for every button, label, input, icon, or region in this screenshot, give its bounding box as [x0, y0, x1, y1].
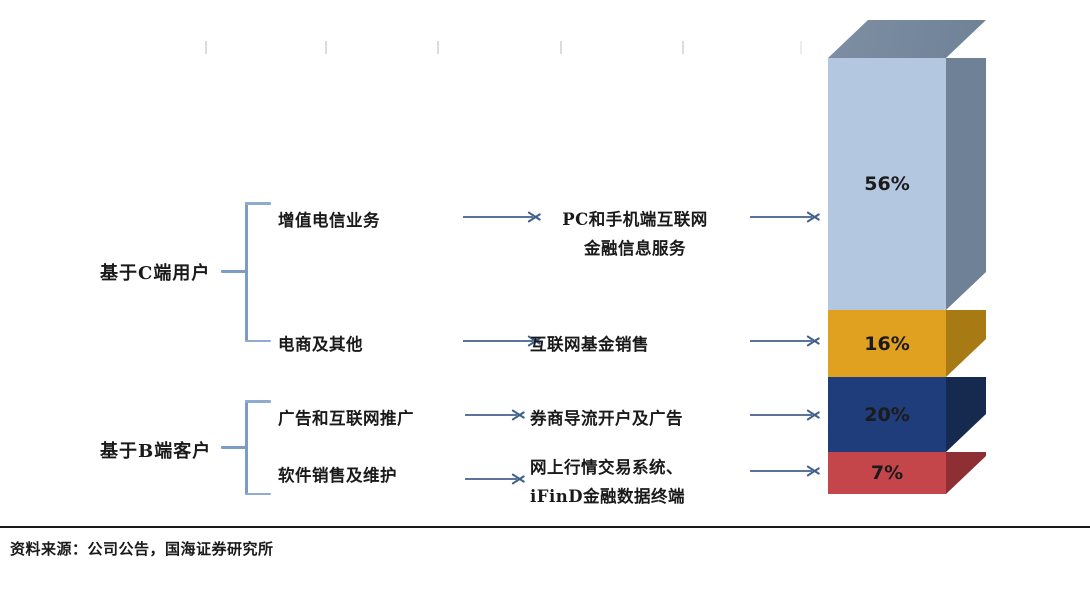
group-label-c-side: 基于C端用户 — [100, 259, 210, 285]
arrow-segment-to-service-4 — [465, 470, 525, 488]
bracket-arm-top — [245, 400, 271, 403]
service-label-1-line1: PC和手机端互联网 — [530, 205, 740, 234]
service-label-4-line1: 网上行情交易系统、 — [530, 453, 760, 482]
bracket-arm-bottom — [245, 340, 271, 343]
bracket-stem — [221, 446, 247, 449]
axis-tick — [205, 41, 207, 54]
segment-label-3: 广告和互联网推广 — [278, 405, 414, 429]
arrow-service-to-bar-3 — [750, 406, 820, 424]
arrow-head-icon — [807, 463, 820, 479]
bracket-b-side — [235, 400, 275, 495]
arrow-service-to-bar-1 — [750, 208, 820, 226]
service-label-1-line2: 金融信息服务 — [530, 234, 740, 263]
service-label-1: PC和手机端互联网 金融信息服务 — [530, 205, 740, 263]
bracket-stem — [221, 270, 247, 273]
bar-top-face-fill — [828, 20, 986, 58]
arrow-head-icon — [807, 209, 820, 225]
group-label-b-side: 基于B端客户 — [100, 437, 211, 463]
bar-segment-3-value: 20% — [828, 404, 946, 426]
segment-label-4: 软件销售及维护 — [278, 462, 397, 486]
service-label-3: 券商导流开户及广告 — [530, 405, 683, 429]
source-note: 资料来源：公司公告，国海证券研究所 — [10, 538, 274, 559]
bar-segment-4-side — [946, 452, 986, 494]
arrow-shaft — [750, 340, 812, 342]
bar-segment-2-value: 16% — [828, 333, 946, 355]
bar-segment-2: 16% — [828, 310, 946, 377]
arrow-shaft — [465, 414, 517, 416]
bar-segment-4: 7% — [828, 452, 946, 494]
arrow-shaft — [750, 470, 812, 472]
service-label-2: 互联网基金销售 — [530, 331, 649, 355]
segment-label-1: 增值电信业务 — [278, 207, 380, 231]
bar-segment-1-value: 56% — [828, 173, 946, 195]
arrow-segment-to-service-3 — [465, 406, 525, 424]
bar-segment-3: 20% — [828, 377, 946, 452]
axis-tick — [560, 41, 562, 54]
arrow-shaft — [463, 216, 533, 218]
arrow-shaft — [750, 216, 812, 218]
arrow-head-icon — [512, 471, 525, 487]
service-label-4: 网上行情交易系统、 iFinD金融数据终端 — [530, 453, 760, 511]
figure-canvas: 基于C端用户 增值电信业务 PC和手机端互联网 金融信息服务 电商及其他 互联网… — [0, 0, 1090, 592]
bar-segment-4-value: 7% — [828, 462, 946, 484]
axis-tick — [800, 41, 802, 54]
arrow-head-icon — [512, 407, 525, 423]
arrow-shaft — [463, 340, 533, 342]
footer-divider — [0, 526, 1090, 528]
service-label-4-line2: iFinD金融数据终端 — [530, 482, 760, 511]
bar-top-face — [828, 20, 946, 58]
bracket-c-side — [235, 202, 275, 342]
arrow-shaft — [750, 414, 812, 416]
axis-tick — [437, 41, 439, 54]
arrow-head-icon — [807, 333, 820, 349]
axis-tick — [325, 41, 327, 54]
axis-tick — [682, 41, 684, 54]
bracket-arm-top — [245, 202, 271, 205]
bar-segment-2-side — [946, 310, 986, 377]
arrow-service-to-bar-2 — [750, 332, 820, 350]
stacked-bar-3d: 56% 16% 20% 7% — [828, 58, 986, 494]
bracket-arm-bottom — [245, 493, 271, 496]
segment-label-2: 电商及其他 — [278, 331, 363, 355]
arrow-shaft — [465, 478, 517, 480]
arrow-service-to-bar-4 — [750, 462, 820, 480]
bar-segment-3-side — [946, 377, 986, 452]
bar-segment-1: 56% — [828, 58, 946, 310]
arrow-head-icon — [807, 407, 820, 423]
bar-segment-1-side — [946, 58, 986, 310]
